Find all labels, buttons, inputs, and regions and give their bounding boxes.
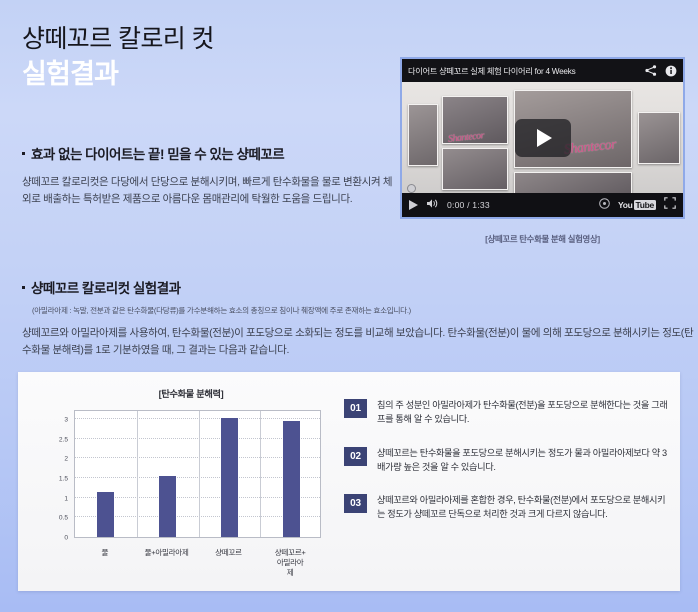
section-results-heading: 샹떼꼬르 칼로리컷 실험결과 [22,280,698,299]
chart-y-tick: 2 [38,456,72,463]
video-container: 다이어트 샹떼꼬르 실제 체험 다이어리 for 4 Weeks [400,57,685,245]
finding-text: 샹떼꼬르와 아밀라아제를 혼합한 경우, 탄수화물(전분)에서 포도당으로 분해… [377,493,668,522]
enzyme-note: (아밀라아제 : 녹말, 전분과 같은 탄수화물(다당류)를 가수분해하는 효소… [32,305,698,316]
chart-bar [283,421,300,537]
section-intro-heading-text: 효과 없는 다이어트는 끝! 믿을 수 있는 샹떼꼬르 [31,146,284,165]
thumbnail-photo [442,148,508,190]
results-panel: [탄수화물 분해력] 32.521.510.50 물물+아밀라아제샹떼꼬르샹떼꼬… [18,372,680,591]
video-time: 0:00 / 1:33 [447,200,490,210]
chart-bar [221,418,238,537]
finding-item: 02샹떼꼬르는 탄수화물을 포도당으로 분해시키는 정도가 물과 아밀라아제보다… [344,446,668,475]
chart-x-tick: 물+아밀라아제 [145,548,189,558]
chart-y-tick: 1 [38,495,72,502]
thumbnail-photo [638,112,680,164]
chart-y-tick: 1.5 [38,475,72,482]
video-top-bar: 다이어트 샹떼꼬르 실제 체험 다이어리 for 4 Weeks [402,59,683,82]
info-icon[interactable] [665,65,677,77]
chart-x-tick: 물 [102,548,109,558]
chart-plot-area [74,410,321,538]
chart-separator [199,411,200,537]
section-results: 샹떼꼬르 칼로리컷 실험결과 (아밀라아제 : 녹말, 전분과 같은 탄수화물(… [22,280,698,359]
chart-separator [137,411,138,537]
bar-chart: [탄수화물 분해력] 32.521.510.50 물물+아밀라아제샹떼꼬르샹떼꼬… [32,380,332,585]
play-triangle-icon [537,129,552,147]
finding-number-badge: 03 [344,494,367,513]
section-intro-heading: 효과 없는 다이어트는 끝! 믿을 수 있는 샹떼꼬르 [22,146,394,165]
section-results-body: 샹떼꼬르와 아밀라아제를 사용하여, 탄수화물(전분)이 포도당으로 소화되는 … [22,325,698,359]
youtube-tube-text: Tube [634,200,656,210]
finding-number-badge: 01 [344,399,367,418]
bullet-square-icon [22,152,25,155]
section-intro-body: 샹떼꼬르 칼로리컷은 다당에서 단당으로 분해시키며, 빠르게 탄수화물을 물로… [22,174,394,208]
chart-bar [159,476,176,537]
thumbnail-photo [514,172,632,193]
video-controls: 0:00 / 1:33 You Tube [402,193,683,217]
settings-icon[interactable] [599,196,610,214]
findings-list: 01침의 주 성분인 아밀라아제가 탄수화물(전분)을 포도당으로 분해한다는 … [344,398,668,541]
finding-text: 침의 주 성분인 아밀라아제가 탄수화물(전분)을 포도당으로 분해한다는 것을… [377,398,668,427]
finding-item: 03샹떼꼬르와 아밀라아제를 혼합한 경우, 탄수화물(전분)에서 포도당으로 … [344,493,668,522]
video-title: 다이어트 샹떼꼬르 실제 체험 다이어리 for 4 Weeks [408,65,641,77]
chart-gridline [75,418,320,419]
chart-y-tick: 3 [38,416,72,423]
page-title: 샹떼꼬르 칼로리 컷 [22,24,392,55]
bullet-square-icon [22,286,25,289]
chart-y-axis: 32.521.510.50 [32,410,72,538]
thumbnail-photo [408,104,438,166]
share-icon[interactable] [645,65,657,76]
play-button[interactable] [515,119,571,157]
chart-y-tick: 0.5 [38,515,72,522]
youtube-you-text: You [618,200,633,210]
page-header: 샹떼꼬르 칼로리 컷 실험결과 [22,24,392,92]
fullscreen-icon[interactable] [664,196,676,214]
video-top-icons [645,65,677,77]
chart-x-tick: 샹떼꼬르 [215,548,242,558]
volume-icon[interactable] [426,196,439,214]
chart-bar [97,492,114,537]
youtube-logo[interactable]: You Tube [618,200,656,210]
section-results-heading-text: 샹떼꼬르 칼로리컷 실험결과 [31,280,181,299]
chart-separator [260,411,261,537]
progress-handle[interactable] [407,184,416,193]
finding-text: 샹떼꼬르는 탄수화물을 포도당으로 분해시키는 정도가 물과 아밀라아제보다 약… [377,446,668,475]
section-intro: 효과 없는 다이어트는 끝! 믿을 수 있는 샹떼꼬르 샹떼꼬르 칼로리컷은 다… [22,146,394,208]
chart-title: [탄수화물 분해력] [50,386,332,400]
video-caption: [샹떼꼬르 탄수화물 분해 실험영상] [400,233,685,245]
control-play-icon[interactable] [409,200,418,210]
page-subtitle: 실험결과 [22,57,392,92]
chart-x-axis: 물물+아밀라아제샹떼꼬르샹떼꼬르+ 아밀라아제 [74,542,321,578]
finding-number-badge: 02 [344,447,367,466]
finding-item: 01침의 주 성분인 아밀라아제가 탄수화물(전분)을 포도당으로 분해한다는 … [344,398,668,427]
chart-x-tick: 샹떼꼬르+ 아밀라아제 [275,548,306,578]
chart-y-tick: 2.5 [38,436,72,443]
youtube-player[interactable]: 다이어트 샹떼꼬르 실제 체험 다이어리 for 4 Weeks [400,57,685,219]
chart-y-tick: 0 [38,535,72,542]
